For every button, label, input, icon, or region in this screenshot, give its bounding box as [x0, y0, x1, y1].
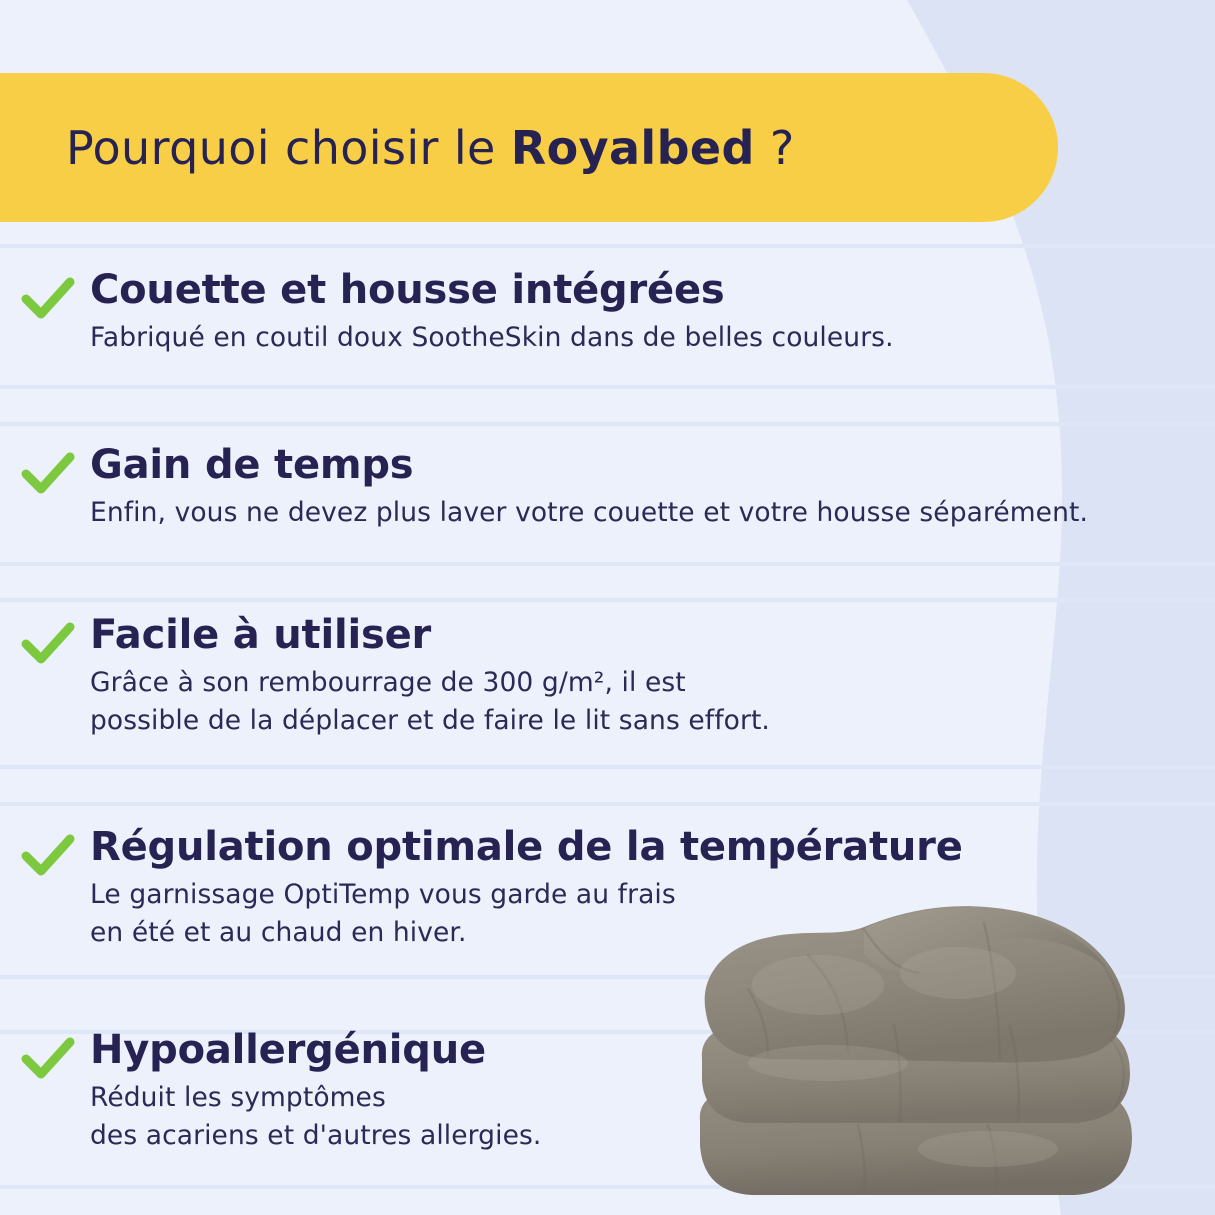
feature-body: Gain de temps Enfin, vous ne devez plus …: [90, 443, 1215, 532]
divider-line: [0, 385, 1215, 389]
brand-name: Royalbed: [511, 121, 755, 175]
check-icon: [20, 274, 76, 322]
promo-infographic: Pourquoi choisir le Royalbed ? Couette e…: [0, 0, 1215, 1215]
feature-item: Couette et housse intégrées Fabriqué en …: [0, 268, 1215, 357]
feature-description: Fabriqué en coutil doux SootheSkin dans …: [90, 319, 1215, 357]
feature-item: Hypoallergénique Réduit les symptômes de…: [0, 1028, 1215, 1156]
feature-title: Régulation optimale de la température: [90, 825, 1215, 870]
check-icon: [20, 449, 76, 497]
feature-description: Grâce à son rembourrage de 300 g/m², il …: [90, 664, 1215, 741]
divider-line: [0, 802, 1215, 806]
feature-item: Gain de temps Enfin, vous ne devez plus …: [0, 443, 1215, 532]
divider-line: [0, 244, 1215, 248]
header-banner: Pourquoi choisir le Royalbed ?: [0, 73, 1058, 222]
feature-title: Facile à utiliser: [90, 613, 1215, 658]
feature-body: Couette et housse intégrées Fabriqué en …: [90, 268, 1215, 357]
feature-body: Hypoallergénique Réduit les symptômes de…: [90, 1028, 1215, 1156]
page-title-prefix: Pourquoi choisir le: [66, 121, 511, 175]
divider-line: [0, 1185, 1215, 1189]
divider-line: [0, 422, 1215, 426]
feature-body: Facile à utiliser Grâce à son rembourrag…: [90, 613, 1215, 741]
check-icon: [20, 619, 76, 667]
feature-title: Hypoallergénique: [90, 1028, 1215, 1073]
page-title: Pourquoi choisir le Royalbed ?: [66, 121, 795, 175]
feature-title: Gain de temps: [90, 443, 1215, 488]
feature-body: Régulation optimale de la température Le…: [90, 825, 1215, 953]
page-title-suffix: ?: [755, 121, 795, 175]
divider-line: [0, 598, 1215, 602]
feature-title: Couette et housse intégrées: [90, 268, 1215, 313]
feature-item: Régulation optimale de la température Le…: [0, 825, 1215, 953]
divider-line: [0, 765, 1215, 769]
check-icon: [20, 1034, 76, 1082]
feature-description: Enfin, vous ne devez plus laver votre co…: [90, 494, 1215, 532]
feature-description: Le garnissage OptiTemp vous garde au fra…: [90, 876, 1215, 953]
feature-item: Facile à utiliser Grâce à son rembourrag…: [0, 613, 1215, 741]
divider-line: [0, 975, 1215, 979]
check-icon: [20, 831, 76, 879]
divider-line: [0, 562, 1215, 566]
feature-description: Réduit les symptômes des acariens et d'a…: [90, 1079, 1215, 1156]
